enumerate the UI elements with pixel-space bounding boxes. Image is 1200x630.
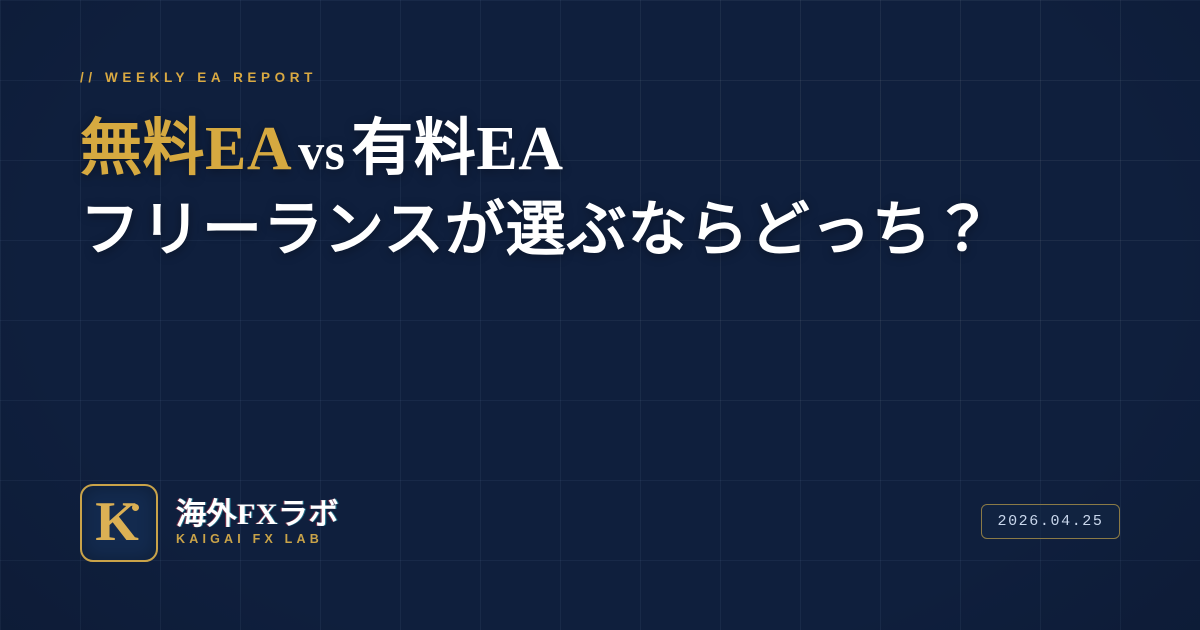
og-card-canvas: // WEEKLY EA REPORT 無料EAvs有料EA フリーランスが選ぶ… [0, 0, 1200, 630]
brand-name: 海外FXラボ [176, 499, 339, 531]
kicker-label: // WEEKLY EA REPORT [80, 70, 317, 86]
logo-dot-icon [132, 504, 139, 511]
headline-line-1: 無料EAvs有料EA [80, 118, 1130, 180]
headline-block: 無料EAvs有料EA フリーランスが選ぶならどっち？ [80, 118, 1130, 260]
headline-vs-word: vs [292, 124, 351, 181]
date-badge: 2026.04.25 [981, 504, 1120, 539]
brand-subtitle: KAIGAI FX LAB [176, 533, 339, 547]
brand-text-block: 海外FXラボ KAIGAI FX LAB [176, 499, 339, 547]
logo-letter-k: K [95, 494, 139, 550]
headline-accent-free-ea: 無料EA [80, 115, 292, 183]
headline-line-2: フリーランスが選ぶならどっち？ [80, 200, 1130, 260]
logo-mark-square: K [80, 484, 158, 562]
headline-paid-ea: 有料EA [351, 115, 563, 183]
brand-logo-lockup[interactable]: K 海外FXラボ KAIGAI FX LAB [80, 484, 339, 562]
